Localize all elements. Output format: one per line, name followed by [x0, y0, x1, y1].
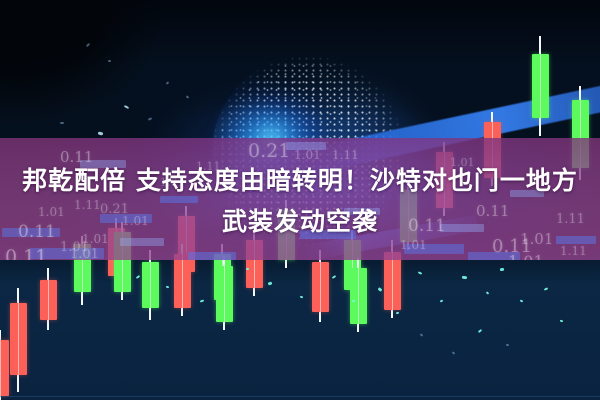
overlay-number: 1.01	[60, 240, 89, 255]
candle-10	[312, 250, 329, 322]
candle-body	[174, 254, 191, 308]
candle-body	[40, 280, 57, 320]
candle-14	[350, 258, 367, 332]
overlay-number: 1.11	[368, 138, 393, 139]
candle-body	[384, 252, 401, 310]
overlay-number: 1.01	[508, 252, 544, 260]
headline: 邦乾配倍 支持态度由暗转明！沙特对也门一地方 武装发动空袭	[0, 160, 600, 242]
candle-1	[10, 288, 27, 392]
headline-line-2: 武装发动空袭	[0, 201, 600, 242]
candle-body	[216, 266, 233, 322]
candle-body	[142, 262, 159, 308]
candle-body	[0, 340, 9, 396]
candle-2	[40, 268, 57, 330]
particle-speck	[166, 286, 169, 289]
particle-speck	[560, 320, 563, 323]
particle-speck	[246, 268, 249, 270]
candle-22	[0, 330, 9, 400]
particle-speck	[60, 122, 64, 124]
candle-5	[142, 250, 159, 320]
headline-line-1: 邦乾配倍 支持态度由暗转明！沙特对也门一地方	[0, 160, 600, 201]
overlay-number: 0.21	[248, 140, 290, 162]
candle-body	[532, 54, 549, 118]
candle-body	[350, 268, 367, 324]
bottom-divider-line	[0, 396, 600, 397]
banner-image: 0.110.110.111.011.111.011.010.211.010.11…	[0, 0, 600, 400]
overlay-number: 1.11	[560, 244, 587, 258]
candle-20	[532, 36, 549, 136]
particle-speck	[506, 344, 509, 346]
particle-speck	[462, 276, 467, 280]
overlay-number: 0.11	[5, 246, 47, 260]
candle-body	[10, 303, 27, 375]
candle-12	[216, 256, 233, 330]
candle-body	[312, 262, 329, 312]
band-bar	[188, 252, 236, 260]
particle-speck	[352, 300, 355, 302]
